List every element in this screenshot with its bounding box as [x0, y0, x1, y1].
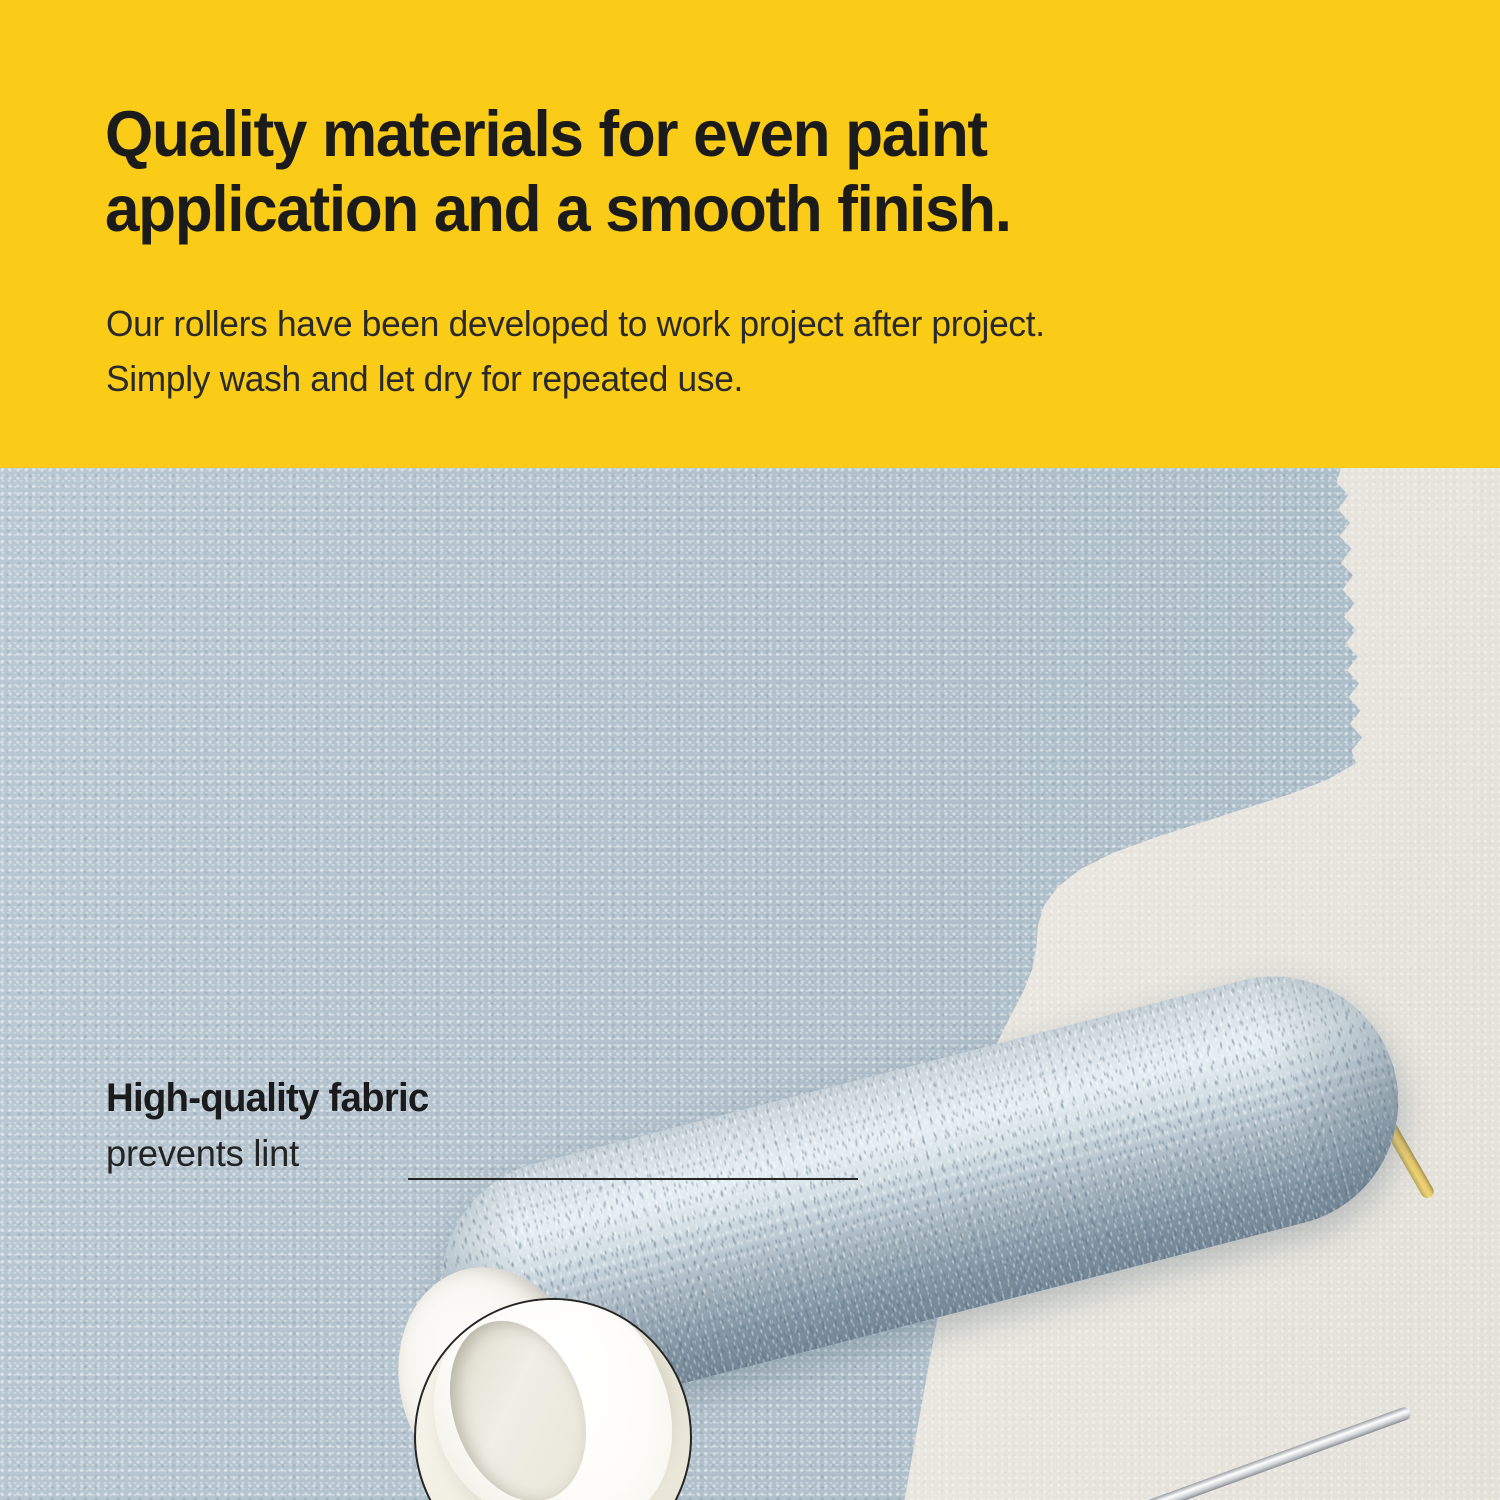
headline: Quality materials for even paint applica… [105, 96, 1203, 247]
header-band: Quality materials for even paint applica… [0, 0, 1500, 468]
callout-fabric-title: High-quality fabric [106, 1076, 429, 1121]
product-photo: High-quality fabric prevents lint Polypr… [0, 468, 1500, 1500]
paint-roller-assembly [0, 468, 1500, 1500]
infographic-canvas: Quality materials for even paint applica… [0, 0, 1500, 1500]
subheadline: Our rollers have been developed to work … [106, 296, 1400, 406]
fabric-leader-line [408, 1178, 858, 1180]
callout-fabric: High-quality fabric prevents lint [106, 1076, 442, 1176]
callout-fabric-subtitle: prevents lint [106, 1131, 435, 1176]
frame-rod-upper [1098, 1406, 1413, 1500]
